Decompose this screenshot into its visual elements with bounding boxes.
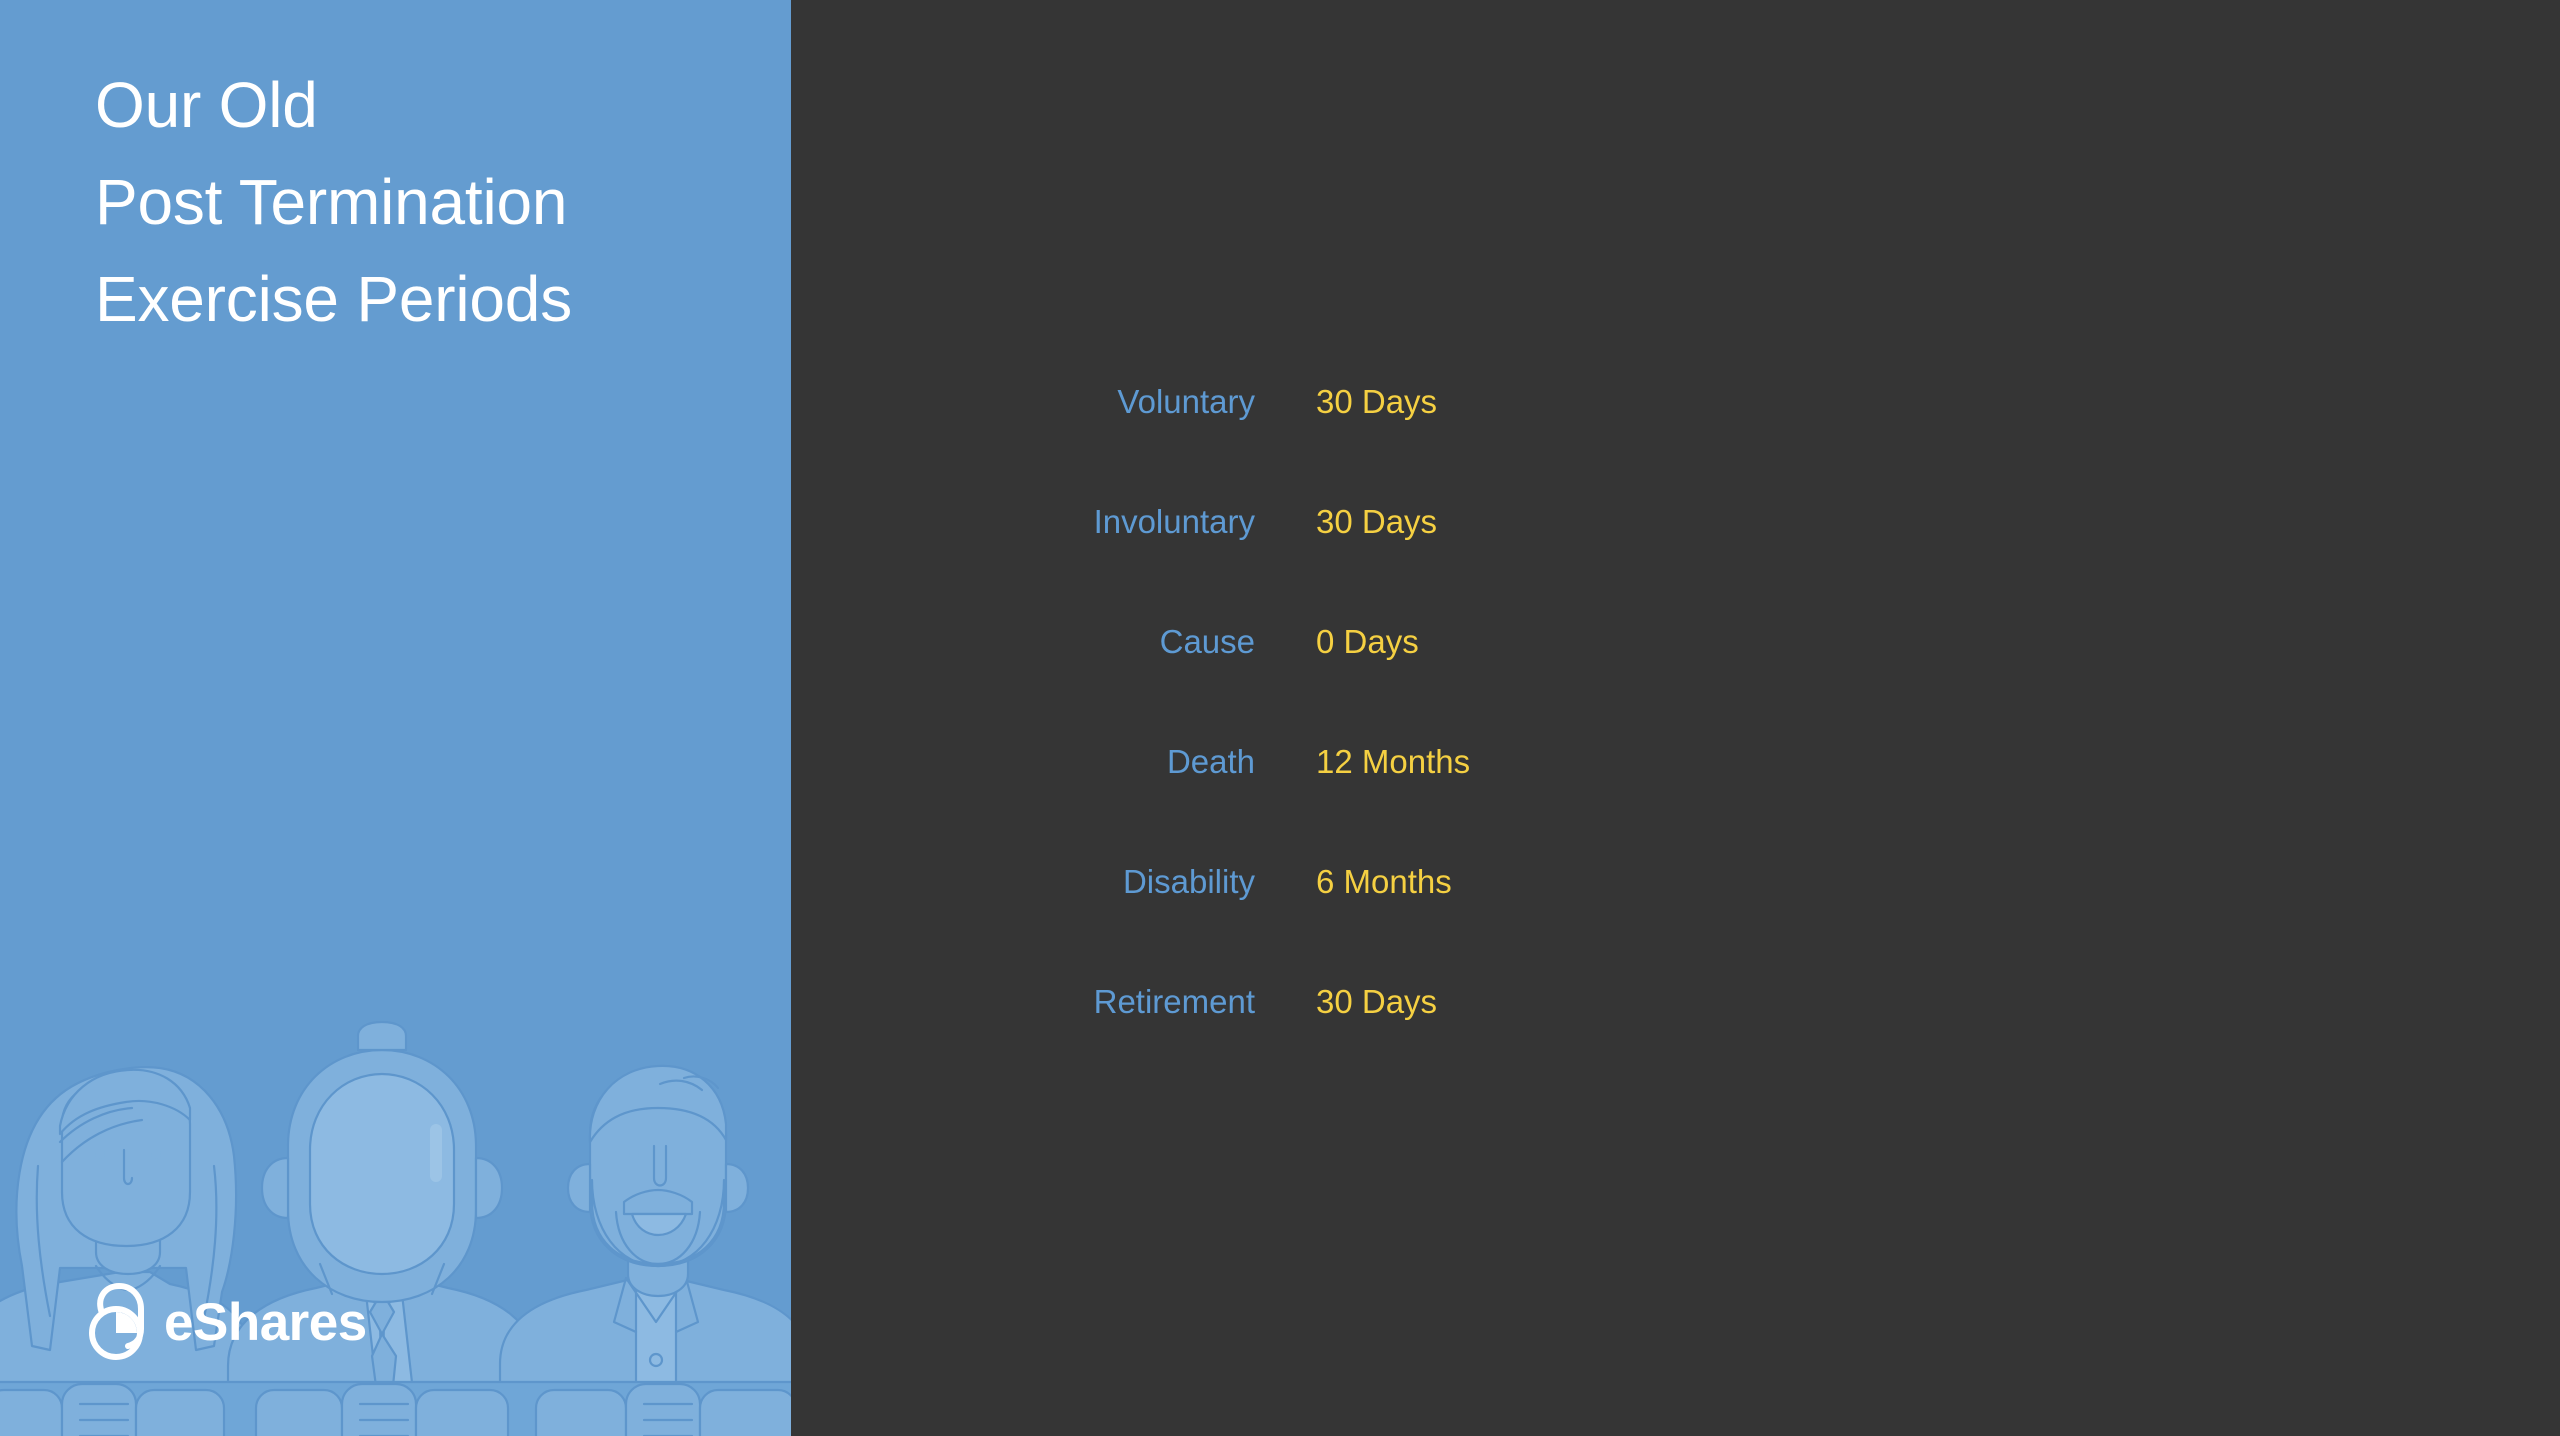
row-value-disability: 6 Months <box>1316 862 1452 902</box>
hands-center <box>256 1384 508 1436</box>
row-label-cause: Cause <box>791 622 1255 662</box>
left-title-panel: Our Old Post Termination Exercise Period… <box>0 0 791 1436</box>
table-row: Voluntary 30 Days <box>791 382 1891 502</box>
person-woman-icon <box>0 1067 250 1436</box>
slide-canvas: Our Old Post Termination Exercise Period… <box>0 0 2560 1436</box>
row-value-retirement: 30 Days <box>1316 982 1437 1022</box>
content-panel: Voluntary 30 Days Involuntary 30 Days Ca… <box>791 0 2560 1436</box>
termination-periods-table: Voluntary 30 Days Involuntary 30 Days Ca… <box>791 382 1891 1102</box>
hands-right <box>536 1384 791 1436</box>
brand-logo: eShares <box>88 1283 367 1361</box>
row-value-voluntary: 30 Days <box>1316 382 1437 422</box>
title-line-1: Our Old <box>95 57 755 154</box>
table-row: Retirement 30 Days <box>791 982 1891 1102</box>
row-label-disability: Disability <box>791 862 1255 902</box>
table-row: Disability 6 Months <box>791 862 1891 982</box>
row-label-death: Death <box>791 742 1255 782</box>
table-row: Involuntary 30 Days <box>791 502 1891 622</box>
table-row: Cause 0 Days <box>791 622 1891 742</box>
row-value-involuntary: 30 Days <box>1316 502 1437 542</box>
hands-left <box>0 1384 224 1436</box>
person-bearded-man-icon <box>500 1066 791 1436</box>
row-label-involuntary: Involuntary <box>791 502 1255 542</box>
row-label-retirement: Retirement <box>791 982 1255 1022</box>
person-astronaut-suit-icon <box>228 1022 536 1436</box>
title-line-3: Exercise Periods <box>95 251 755 348</box>
row-label-voluntary: Voluntary <box>791 382 1255 422</box>
row-value-cause: 0 Days <box>1316 622 1419 662</box>
three-people-at-table-illustration <box>0 1016 791 1436</box>
brand-name: eShares <box>164 1296 367 1349</box>
table-row: Death 12 Months <box>791 742 1891 862</box>
title-line-2: Post Termination <box>95 154 755 251</box>
padlock-pie-icon <box>88 1283 150 1361</box>
row-value-death: 12 Months <box>1316 742 1470 782</box>
slide-title: Our Old Post Termination Exercise Period… <box>95 57 755 348</box>
